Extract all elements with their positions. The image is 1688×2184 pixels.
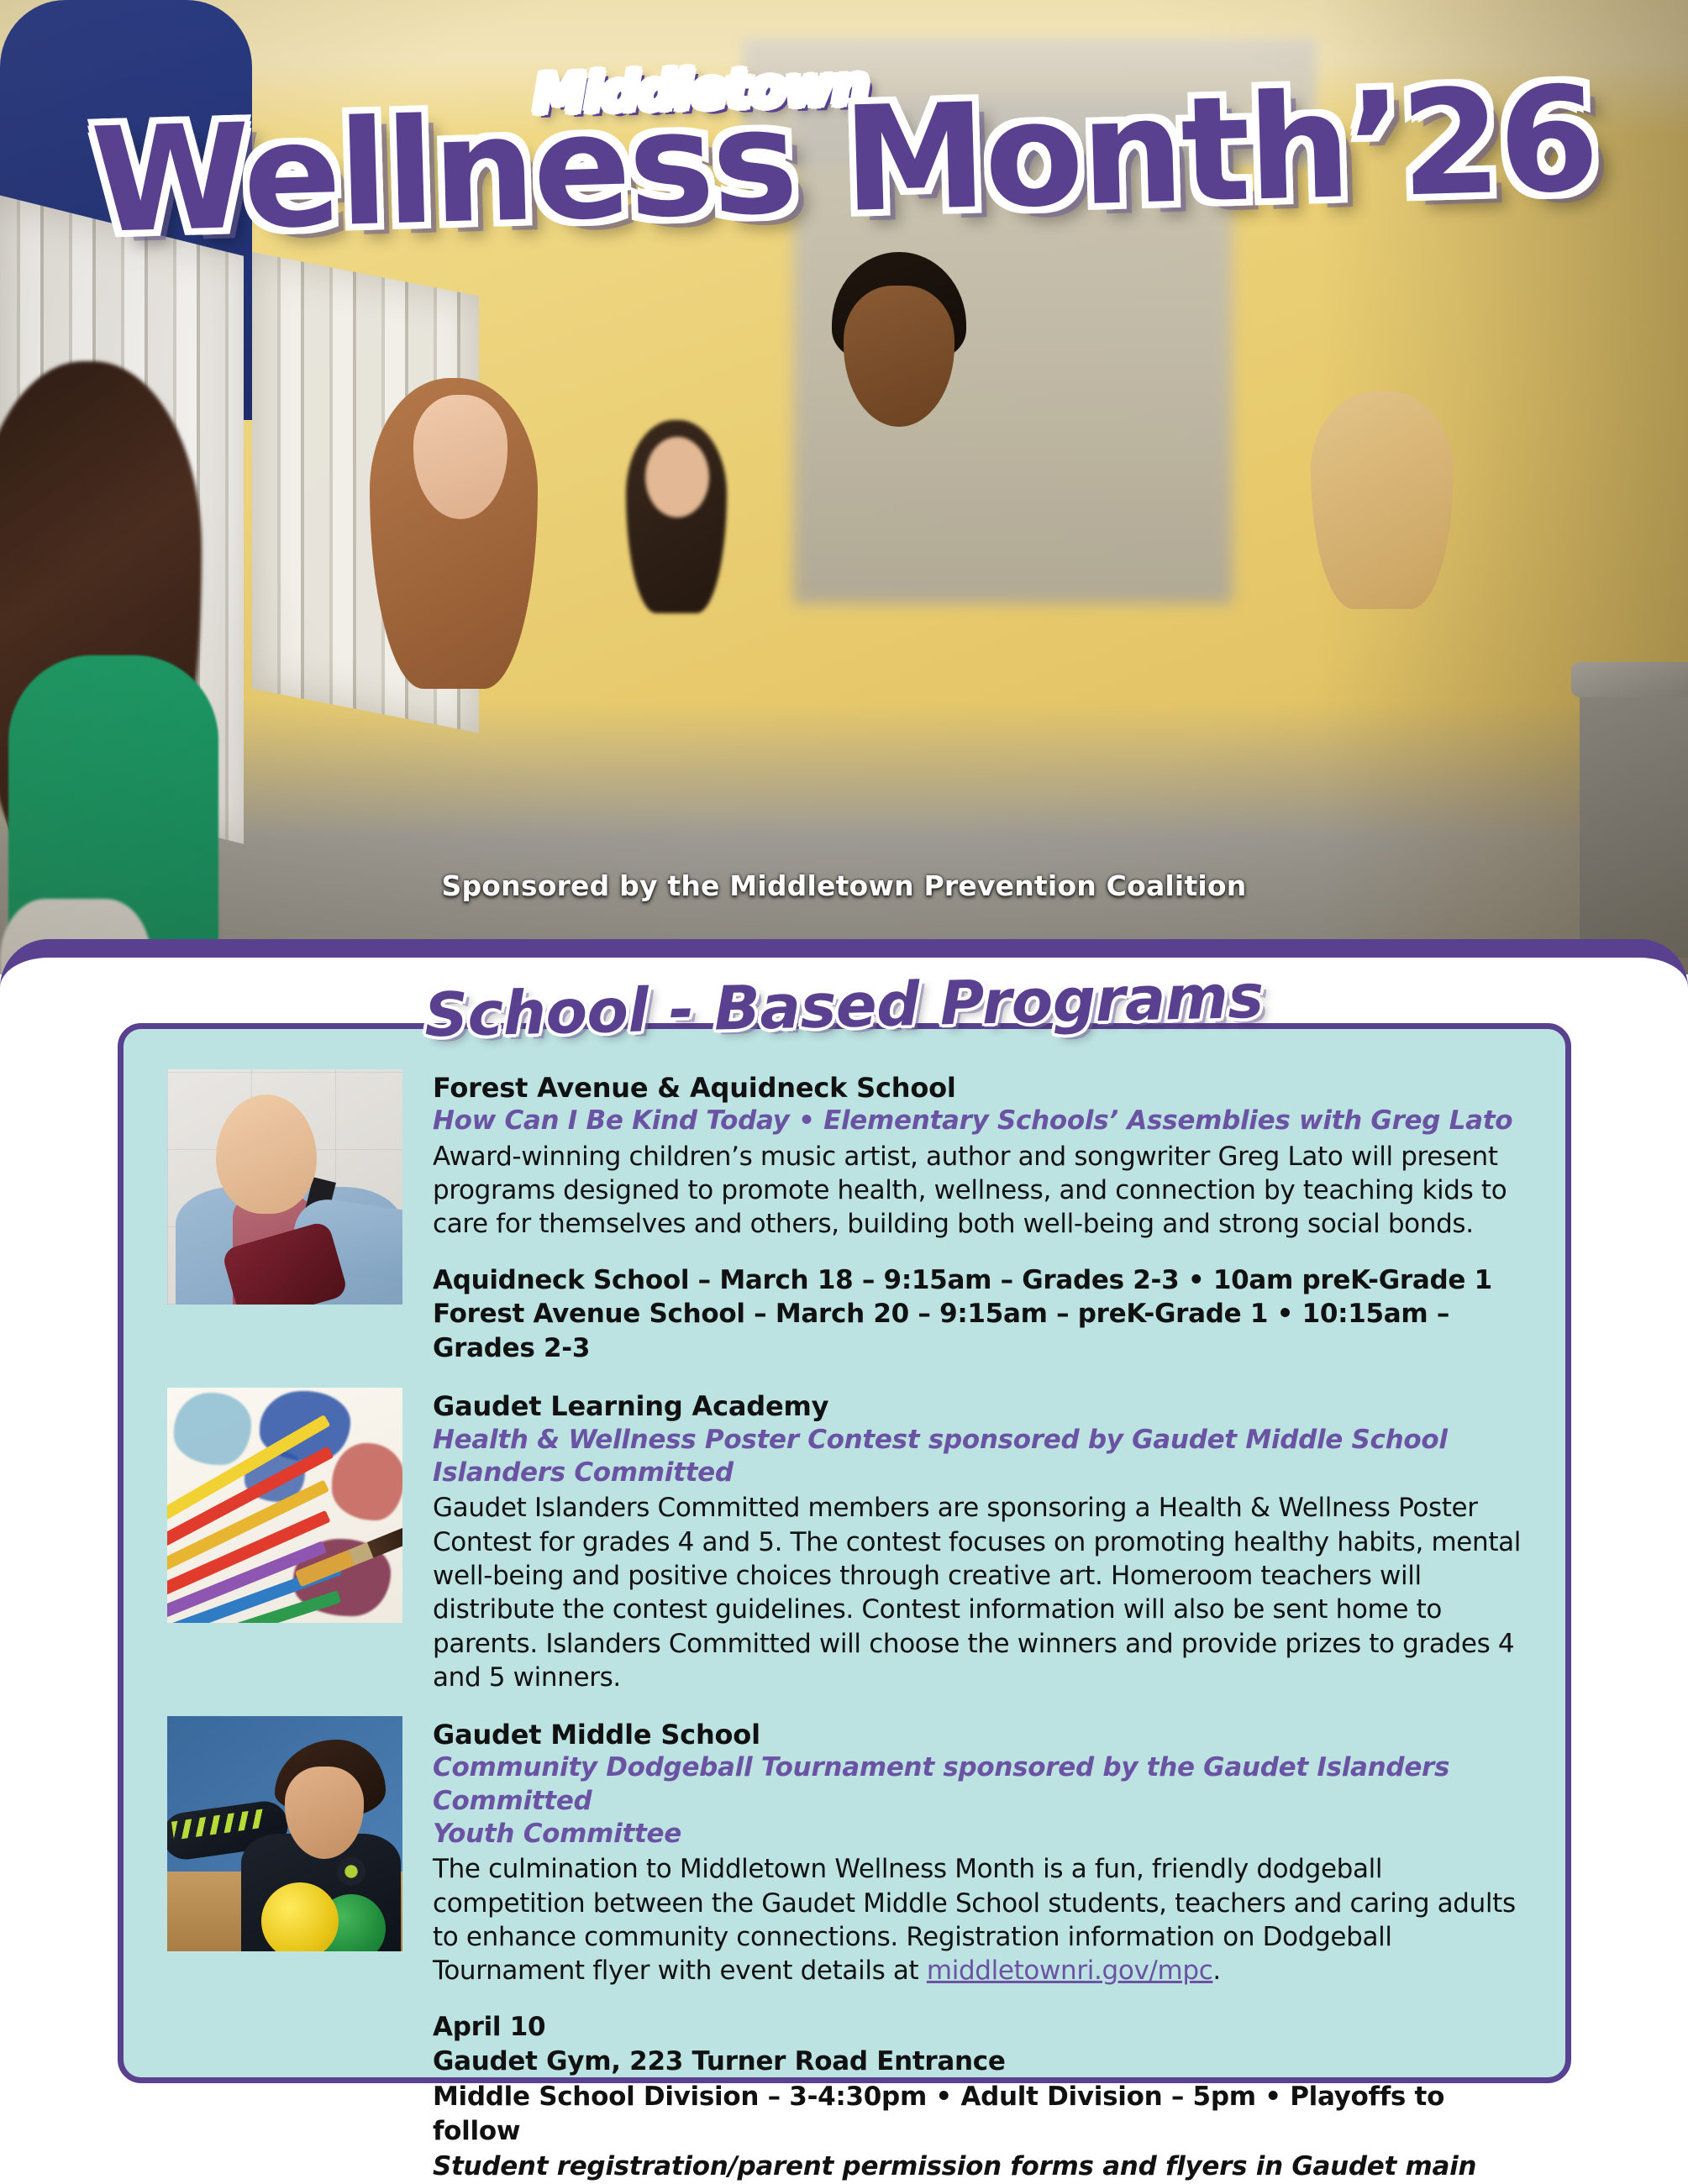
sponsor-line: Sponsored by the Middletown Prevention C… — [0, 869, 1688, 902]
colored-pencils-art-photo — [167, 1388, 402, 1623]
event-location: Gaudet Gym, 223 Turner Road Entrance — [433, 2045, 1522, 2080]
program-item-gaudet-learning-academy: Gaudet Learning Academy Health & Wellnes… — [167, 1388, 1522, 1694]
musician-head — [216, 1095, 317, 1214]
event-date: April 10 — [433, 2010, 1522, 2045]
event-divisions: Middle School Division – 3-4:30pm • Adul… — [433, 2080, 1522, 2150]
program-subtitle: How Can I Be Kind Today • Elementary Sch… — [433, 1105, 1522, 1137]
program-school-name: Gaudet Middle School — [433, 1718, 1522, 1751]
flyer-page: Middletown Wellness Month’26 Sponsored b… — [0, 0, 1688, 2184]
greg-lato-musician-photo — [167, 1069, 402, 1305]
event-registration-note: Student registration/parent permission f… — [433, 2150, 1522, 2184]
programs-panel: Forest Avenue & Aquidneck School How Can… — [118, 1023, 1571, 2083]
hero-banner: Middletown Wellness Month’26 Sponsored b… — [0, 0, 1688, 974]
program-description: Award-winning children’s music artist, a… — [433, 1140, 1522, 1242]
schedule-line: Forest Avenue School – March 20 – 9:15am… — [433, 1297, 1522, 1366]
section-heading: School - Based Programs — [0, 970, 1688, 1041]
program-thumb-wrap — [167, 1388, 402, 1694]
school-hallway-photo — [0, 0, 1688, 974]
program-item-gaudet-middle-school: Gaudet Middle School Community Dodgeball… — [167, 1716, 1522, 1988]
program-school-name: Forest Avenue & Aquidneck School — [433, 1071, 1522, 1105]
event-details: April 10 Gaudet Gym, 223 Turner Road Ent… — [433, 2010, 1522, 2184]
photo-vignette — [0, 0, 1688, 974]
mpc-website-link[interactable]: middletownri.gov/mpc — [927, 1956, 1213, 1986]
program-thumb-wrap — [167, 1069, 402, 1366]
program-description: Gaudet Islanders Committed members are s… — [433, 1491, 1522, 1694]
hoodie-logo-icon — [337, 1857, 365, 1886]
schedule-line: Aquidneck School – March 18 – 9:15am – G… — [433, 1263, 1522, 1298]
watercolor-blot — [174, 1393, 251, 1465]
program-description: The culmination to Middletown Wellness M… — [433, 1852, 1522, 1987]
program-subtitle-line2: Youth Committee — [433, 1818, 1522, 1851]
section-heading-text: School - Based Programs — [423, 961, 1264, 1051]
program-body: Forest Avenue & Aquidneck School How Can… — [433, 1069, 1522, 1366]
program-thumb-wrap — [167, 1716, 402, 1988]
program-subtitle-line1: Community Dodgeball Tournament sponsored… — [433, 1751, 1522, 1818]
dodgeball-student-photo — [167, 1716, 402, 1951]
dodgeball-yellow-icon — [261, 1882, 339, 1951]
program-body: Gaudet Learning Academy Health & Wellnes… — [433, 1388, 1522, 1694]
program-subtitle-line2: Islanders Committed — [433, 1457, 1522, 1489]
program-subtitle-line1: Health & Wellness Poster Contest sponsor… — [433, 1424, 1522, 1457]
program-body: Gaudet Middle School Community Dodgeball… — [433, 1716, 1522, 1988]
description-text-after: . — [1212, 1956, 1221, 1986]
program-schedule: Aquidneck School – March 18 – 9:15am – G… — [433, 1263, 1522, 1367]
program-school-name: Gaudet Learning Academy — [433, 1389, 1522, 1423]
watercolor-blot — [332, 1443, 402, 1520]
program-item-forest-aquidneck: Forest Avenue & Aquidneck School How Can… — [167, 1069, 1522, 1366]
